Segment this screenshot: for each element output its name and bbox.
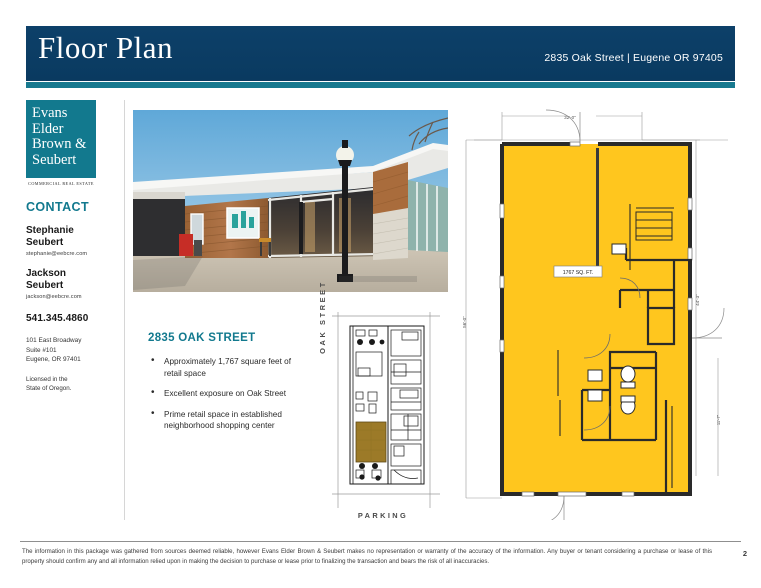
office-address: 101 East Broadway Suite #101 Eugene, OR … (26, 336, 116, 365)
contact-person-2: Jackson Seubert jackson@eebcre.com (26, 268, 116, 300)
page-header: Floor Plan 2835 Oak Street | Eugene OR 9… (26, 26, 735, 81)
description-bullet: Prime retail space in established neighb… (148, 409, 308, 432)
site-map: OAK STREET PARKING (322, 312, 444, 520)
footer-disclaimer: The information in this package was gath… (22, 547, 712, 566)
site-map-drawing (322, 312, 444, 512)
sidebar-divider (124, 100, 125, 520)
contact-person-1: Stephanie Seubert stephanie@eebcre.com (26, 225, 116, 257)
logo-line-3: Brown & (26, 137, 96, 153)
floor-plan-area-label: 1767 SQ. FT. (563, 270, 594, 276)
license-note-line-2: State of Oregon. (26, 384, 116, 393)
site-map-parking-label: PARKING (322, 511, 444, 520)
dimension-left: 56'-0" (462, 316, 467, 328)
logo-line-1: Evans (26, 100, 96, 122)
description-bullet: Approximately 1,767 square feet of retai… (148, 356, 308, 379)
sidebar: Evans Elder Brown & Seubert COMMERCIAL R… (26, 100, 116, 393)
property-photo (133, 110, 448, 292)
contact-2-first-name: Jackson (26, 268, 116, 280)
property-description: 2835 OAK STREET Approximately 1,767 squa… (148, 332, 308, 441)
contact-1-email[interactable]: stephanie@eebcre.com (26, 251, 116, 257)
logo-line-2: Elder (26, 122, 96, 138)
dimension-right-lower: 11'-7" (716, 414, 721, 425)
office-address-line-3: Eugene, OR 97401 (26, 355, 116, 365)
logo-line-4: Seubert (26, 153, 96, 169)
description-heading: 2835 OAK STREET (148, 332, 308, 344)
floor-plan-drawing: 32'-0" 56'-0" 44'-3" 11'-7" (460, 100, 738, 520)
description-bullet-list: Approximately 1,767 square feet of retai… (148, 356, 308, 432)
floor-plan: 32'-0" 56'-0" 44'-3" 11'-7" (460, 100, 738, 520)
header-address: 2835 Oak Street | Eugene OR 97405 (544, 52, 723, 64)
contact-2-email[interactable]: jackson@eebcre.com (26, 294, 116, 300)
site-map-street-label: OAK STREET (318, 272, 327, 362)
logo-tagline: COMMERCIAL REAL ESTATE (26, 178, 96, 186)
page-title: Floor Plan (38, 30, 173, 66)
dimension-right: 44'-3" (695, 294, 700, 306)
contact-phone[interactable]: 541.345.4860 (26, 313, 116, 324)
page-number: 2 (743, 549, 747, 558)
office-address-line-1: 101 East Broadway (26, 336, 116, 346)
header-accent-rule (26, 82, 735, 88)
license-note-line-1: Licensed in the (26, 375, 116, 384)
description-bullet: Excellent exposure on Oak Street (148, 388, 308, 400)
license-note: Licensed in the State of Oregon. (26, 375, 116, 393)
contact-2-last-name: Seubert (26, 280, 116, 292)
footer-divider (20, 541, 741, 542)
contact-1-last-name: Seubert (26, 237, 116, 249)
company-logo: Evans Elder Brown & Seubert (26, 100, 96, 178)
dimension-top: 32'-0" (564, 115, 576, 120)
partition-fin (596, 148, 599, 268)
office-address-line-2: Suite #101 (26, 346, 116, 356)
contact-heading: CONTACT (26, 200, 116, 214)
contact-1-first-name: Stephanie (26, 225, 116, 237)
